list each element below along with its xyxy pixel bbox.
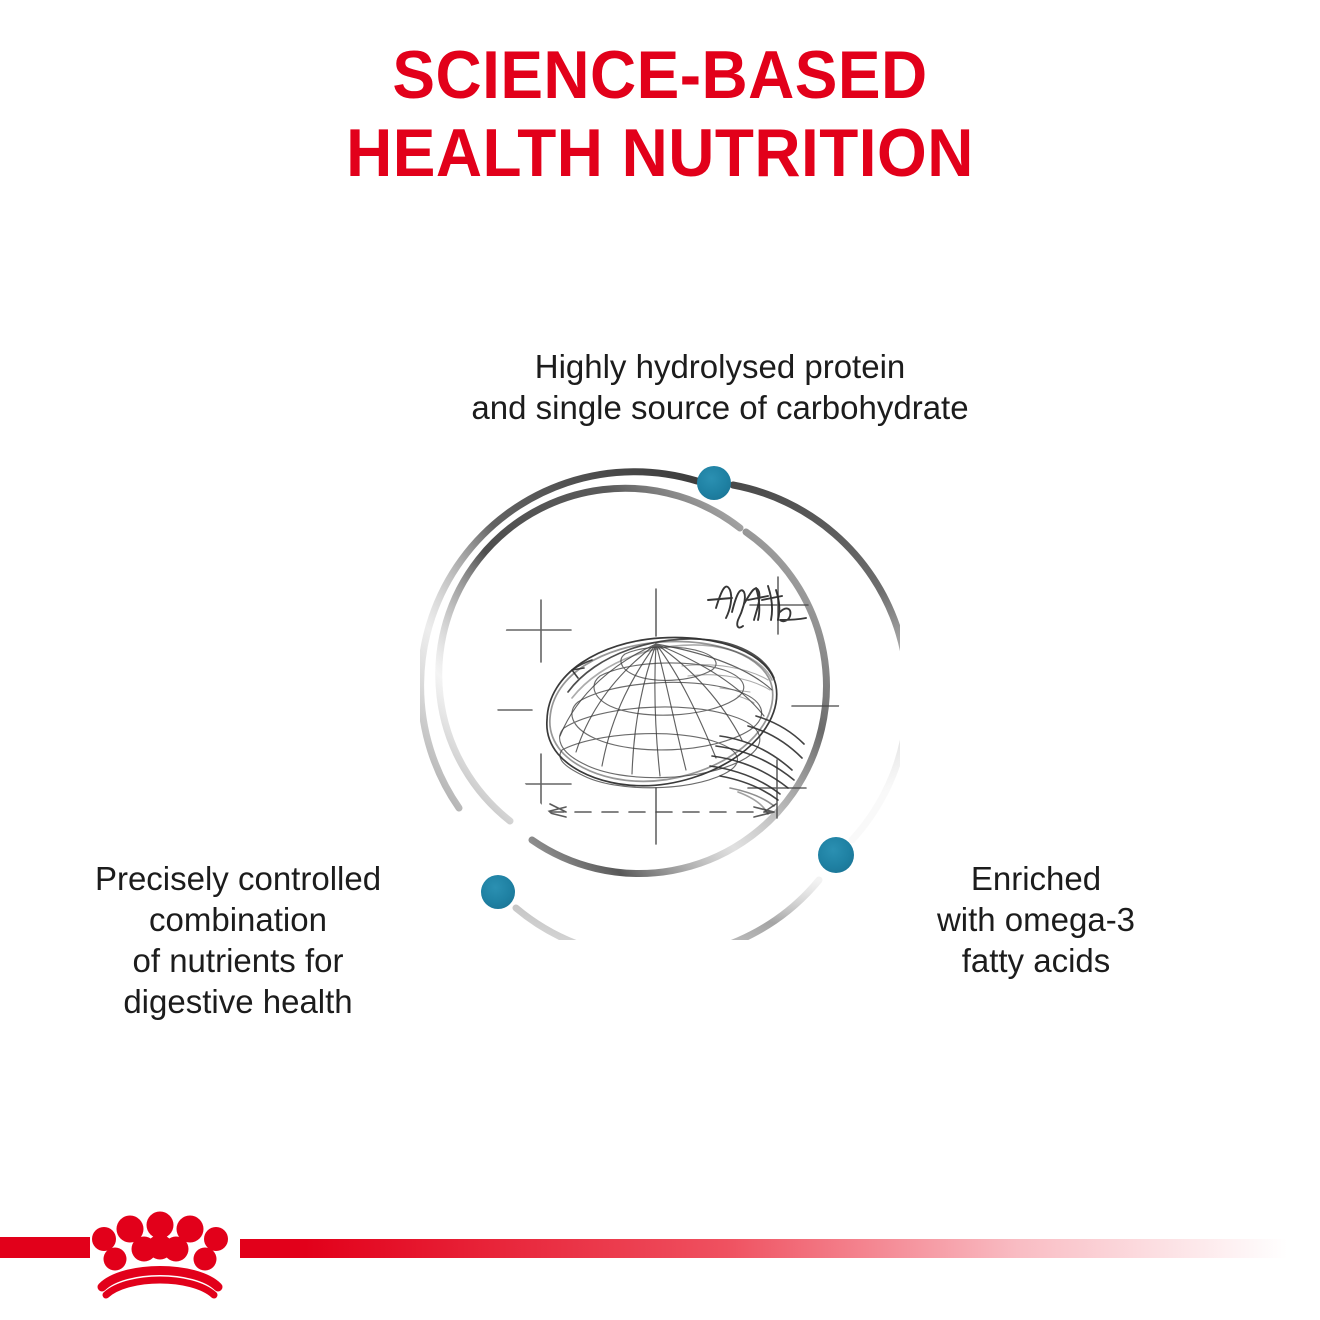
orbit-diagram <box>420 440 900 940</box>
feature-caption-top-line-1: Highly hydrolysed protein <box>260 346 1180 387</box>
feature-caption-right-line-3: fatty acids <box>886 940 1186 981</box>
feature-caption-top: Highly hydrolysed protein and single sou… <box>260 346 1180 428</box>
feature-caption-left-line-1: Precisely controlled <box>18 858 458 899</box>
footer-bar-right <box>240 1239 1320 1258</box>
feature-caption-left-line-2: combination <box>18 899 458 940</box>
feature-caption-left: Precisely controlled combination of nutr… <box>18 858 458 1022</box>
royal-canin-crown-logo <box>84 1203 236 1303</box>
page-title-line-1: SCIENCE-BASED <box>40 36 1281 114</box>
page-title: SCIENCE-BASED HEALTH NUTRITION <box>40 36 1281 192</box>
feature-caption-top-line-2: and single source of carbohydrate <box>260 387 1180 428</box>
orbit-dot-right <box>818 837 854 873</box>
feature-caption-right-line-2: with omega-3 <box>886 899 1186 940</box>
orbit-dot-top <box>697 466 731 500</box>
feature-caption-left-line-3: of nutrients for <box>18 940 458 981</box>
page-title-line-2: HEALTH NUTRITION <box>40 114 1281 192</box>
feature-caption-left-line-4: digestive health <box>18 981 458 1022</box>
feature-caption-right: Enriched with omega-3 fatty acids <box>886 858 1186 981</box>
orbit-dot-bottom-left <box>481 875 515 909</box>
footer-bar-left <box>0 1237 90 1258</box>
feature-caption-right-line-1: Enriched <box>886 858 1186 899</box>
footer-brand-bar <box>0 1195 1320 1320</box>
